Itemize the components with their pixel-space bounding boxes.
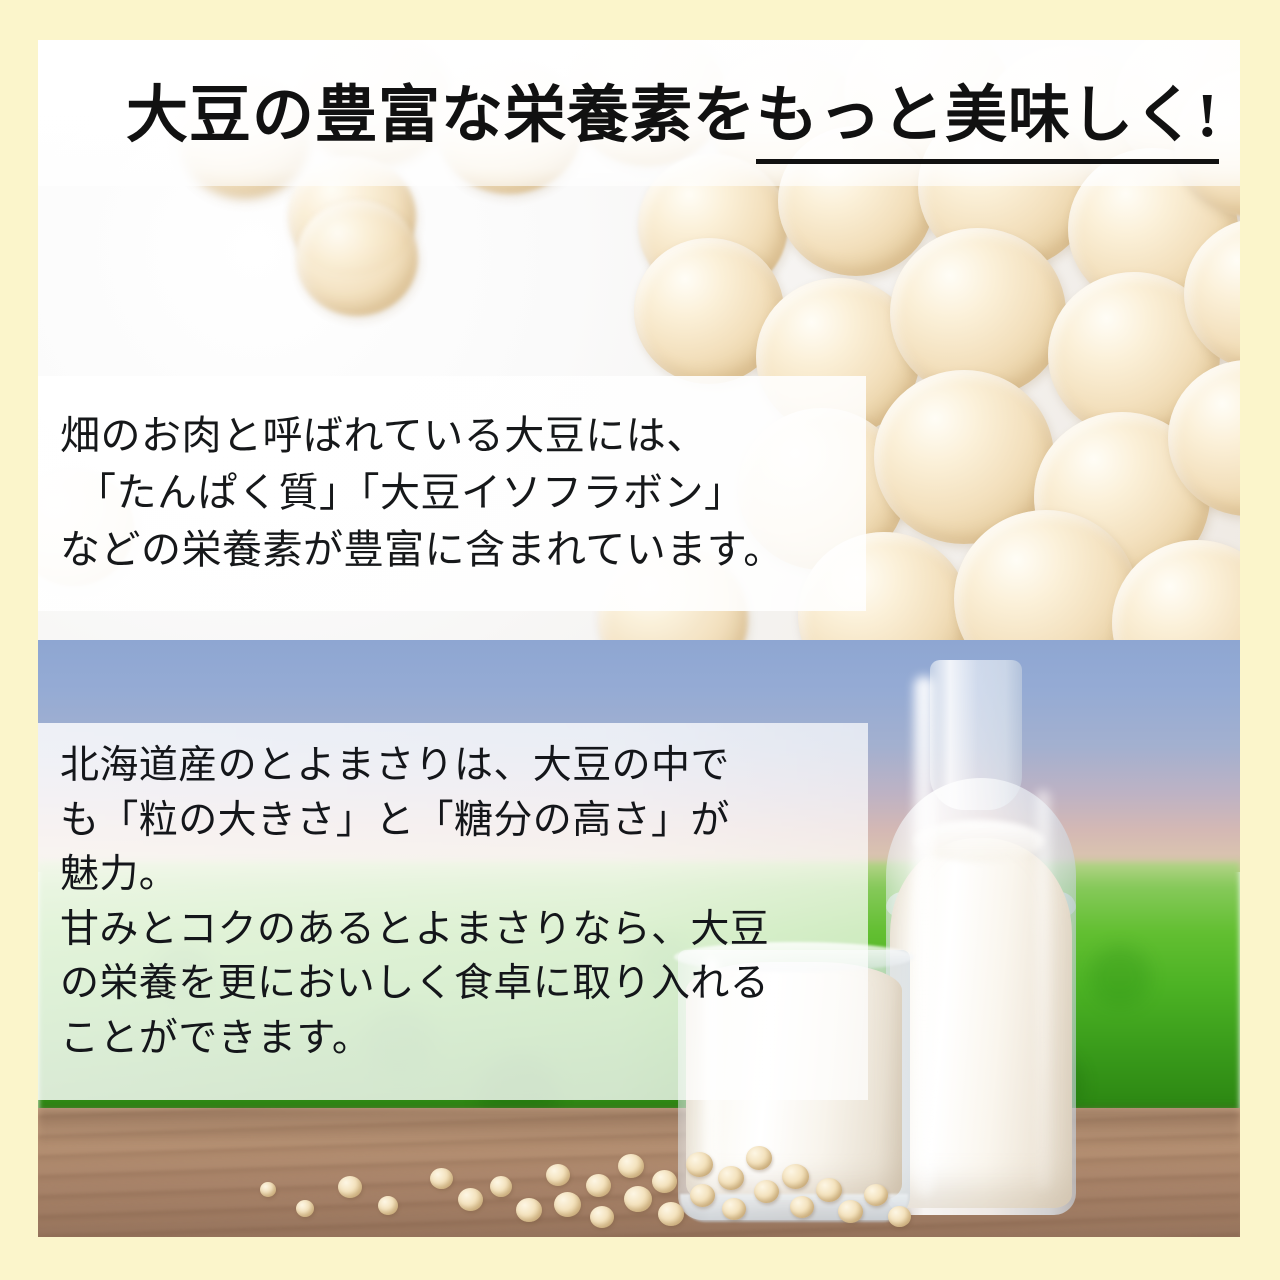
section1-line-1: 畑のお肉と呼ばれている大豆には、 — [60, 408, 866, 465]
section-soymilk: 北海道産のとよまさりは、大豆の中で も「粒の大きさ」と「糖分の高さ」が 魅力。 … — [38, 640, 1240, 1237]
section2-line-5: の栄養を更においしく食卓に取り入れる — [60, 957, 868, 1012]
section1-text-panel: 畑のお肉と呼ばれている大豆には、 「たんぱく質」「大豆イソフラボン」 などの栄養… — [38, 376, 866, 611]
banner-content: 大豆の豊富な栄養素をもっと美味しく! 畑のお肉と呼ばれている大豆には、 「たんぱ… — [38, 40, 1240, 1237]
carafe-highlight-left — [914, 676, 934, 1196]
section2-text-panel: 北海道産のとよまさりは、大豆の中で も「粒の大きさ」と「糖分の高さ」が 魅力。 … — [38, 723, 868, 1100]
section1-line-3: などの栄養素が豊富に含まれています。 — [60, 522, 866, 579]
section-soybeans: 大豆の豊富な栄養素をもっと美味しく! 畑のお肉と呼ばれている大豆には、 「たんぱ… — [38, 40, 1240, 640]
section1-line-2: 「たんぱく質」「大豆イソフラボン」 — [60, 465, 866, 522]
carafe-highlight-right — [1036, 790, 1050, 1190]
section2-line-3: 魅力。 — [60, 848, 868, 903]
section2-line-2: も「粒の大きさ」と「糖分の高さ」が — [60, 794, 868, 849]
promo-banner: 大豆の豊富な栄養素をもっと美味しく! 畑のお肉と呼ばれている大豆には、 「たんぱ… — [0, 0, 1280, 1280]
section2-line-6: ことができます。 — [60, 1012, 868, 1067]
page-title: 大豆の豊富な栄養素をもっと美味しく! — [38, 40, 1240, 192]
title-prefix: 大豆の豊富な栄養素を — [126, 82, 756, 150]
section2-line-4: 甘みとコクのあるとよまさりなら、大豆 — [60, 903, 868, 958]
title-underlined: もっと美味しく! — [756, 82, 1219, 164]
section2-line-1: 北海道産のとよまさりは、大豆の中で — [60, 739, 868, 794]
